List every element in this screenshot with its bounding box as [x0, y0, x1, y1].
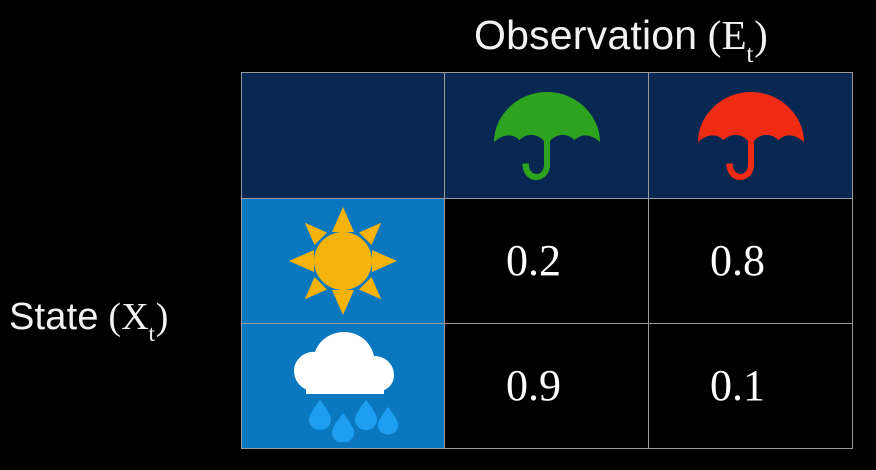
- sensor-model-figure: Observation (Et) State (Xt): [0, 0, 876, 470]
- umbrella-green-icon: [445, 73, 648, 198]
- observation-subscript: t: [746, 40, 753, 68]
- observation-paren-open: (: [697, 12, 721, 58]
- observation-axis-label: Observation (Et): [474, 9, 768, 61]
- value-cell-rain-umbrella-red: 0.1: [649, 324, 853, 449]
- sun-icon: [242, 199, 444, 323]
- state-subscript: t: [148, 321, 155, 347]
- state-paren-open: (: [99, 296, 122, 338]
- state-cell-sun: [242, 199, 445, 324]
- observation-symbol: (Et): [697, 12, 768, 58]
- observation-paren-close: ): [754, 12, 768, 58]
- state-symbol: (Xt): [99, 296, 169, 338]
- table-row-sun: 0.2 0.8: [242, 199, 853, 324]
- table-corner-cell: [242, 73, 445, 199]
- probability-value: 0.9: [445, 364, 648, 408]
- rain-cloud-icon: [242, 324, 444, 448]
- observation-variable: E: [722, 12, 747, 58]
- raindrops: [309, 400, 398, 442]
- umbrella-red-icon: [649, 73, 852, 198]
- observation-label-text: Observation: [474, 12, 697, 58]
- state-cell-rain: [242, 324, 445, 449]
- probability-value: 0.8: [649, 239, 852, 283]
- sensor-model-table: 0.2 0.8: [241, 72, 853, 449]
- header-cell-umbrella-red: [649, 73, 853, 199]
- state-paren-close: ): [156, 296, 169, 338]
- value-cell-sun-umbrella-green: 0.2: [445, 199, 649, 324]
- state-axis-label: State (Xt): [9, 292, 169, 342]
- header-cell-umbrella-green: [445, 73, 649, 199]
- value-cell-sun-umbrella-red: 0.8: [649, 199, 853, 324]
- probability-value: 0.2: [445, 239, 648, 283]
- state-label-text: State: [9, 296, 99, 338]
- state-variable: X: [121, 296, 149, 338]
- table-row-rain: 0.9 0.1: [242, 324, 853, 449]
- cloud-shape: [294, 332, 394, 394]
- value-cell-rain-umbrella-green: 0.9: [445, 324, 649, 449]
- probability-value: 0.1: [649, 364, 852, 408]
- table-header-row: [242, 73, 853, 199]
